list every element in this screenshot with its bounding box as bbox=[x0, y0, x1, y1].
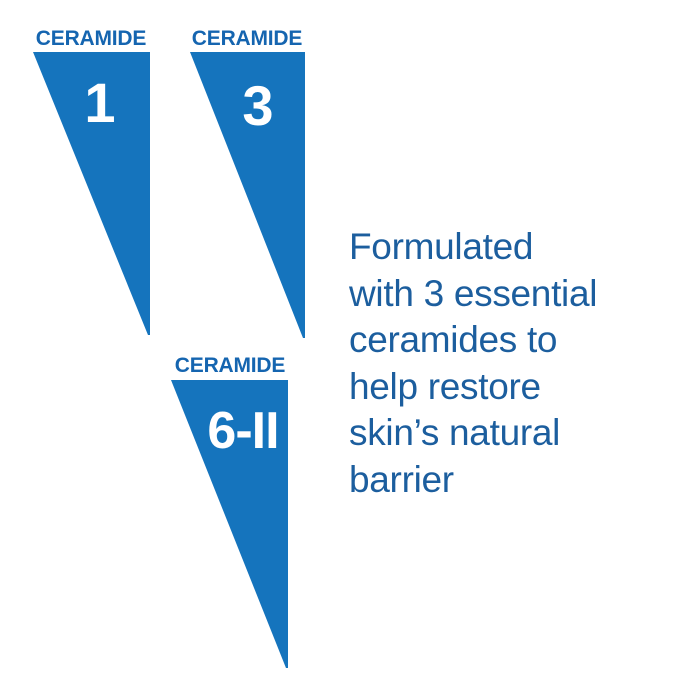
ceramide-number-6ii: 6-II bbox=[207, 402, 278, 460]
ceramide-infographic: CERAMIDE 1 CERAMIDE 3 CERAMIDE 6-II Form… bbox=[0, 0, 679, 679]
ceramide-group-3: CERAMIDE 3 bbox=[190, 27, 305, 338]
ceramide-number-1: 1 bbox=[84, 71, 115, 134]
ceramide-group-1: CERAMIDE 1 bbox=[33, 27, 150, 335]
ceramide-label-1: CERAMIDE bbox=[36, 27, 147, 50]
ceramide-group-6ii: CERAMIDE 6-II bbox=[171, 354, 288, 668]
ceramide-label-6ii: CERAMIDE bbox=[175, 354, 286, 377]
ceramide-number-3: 3 bbox=[242, 74, 273, 137]
ceramide-label-3: CERAMIDE bbox=[192, 27, 303, 50]
body-copy-text: Formulated with 3 essential ceramides to… bbox=[349, 224, 649, 503]
